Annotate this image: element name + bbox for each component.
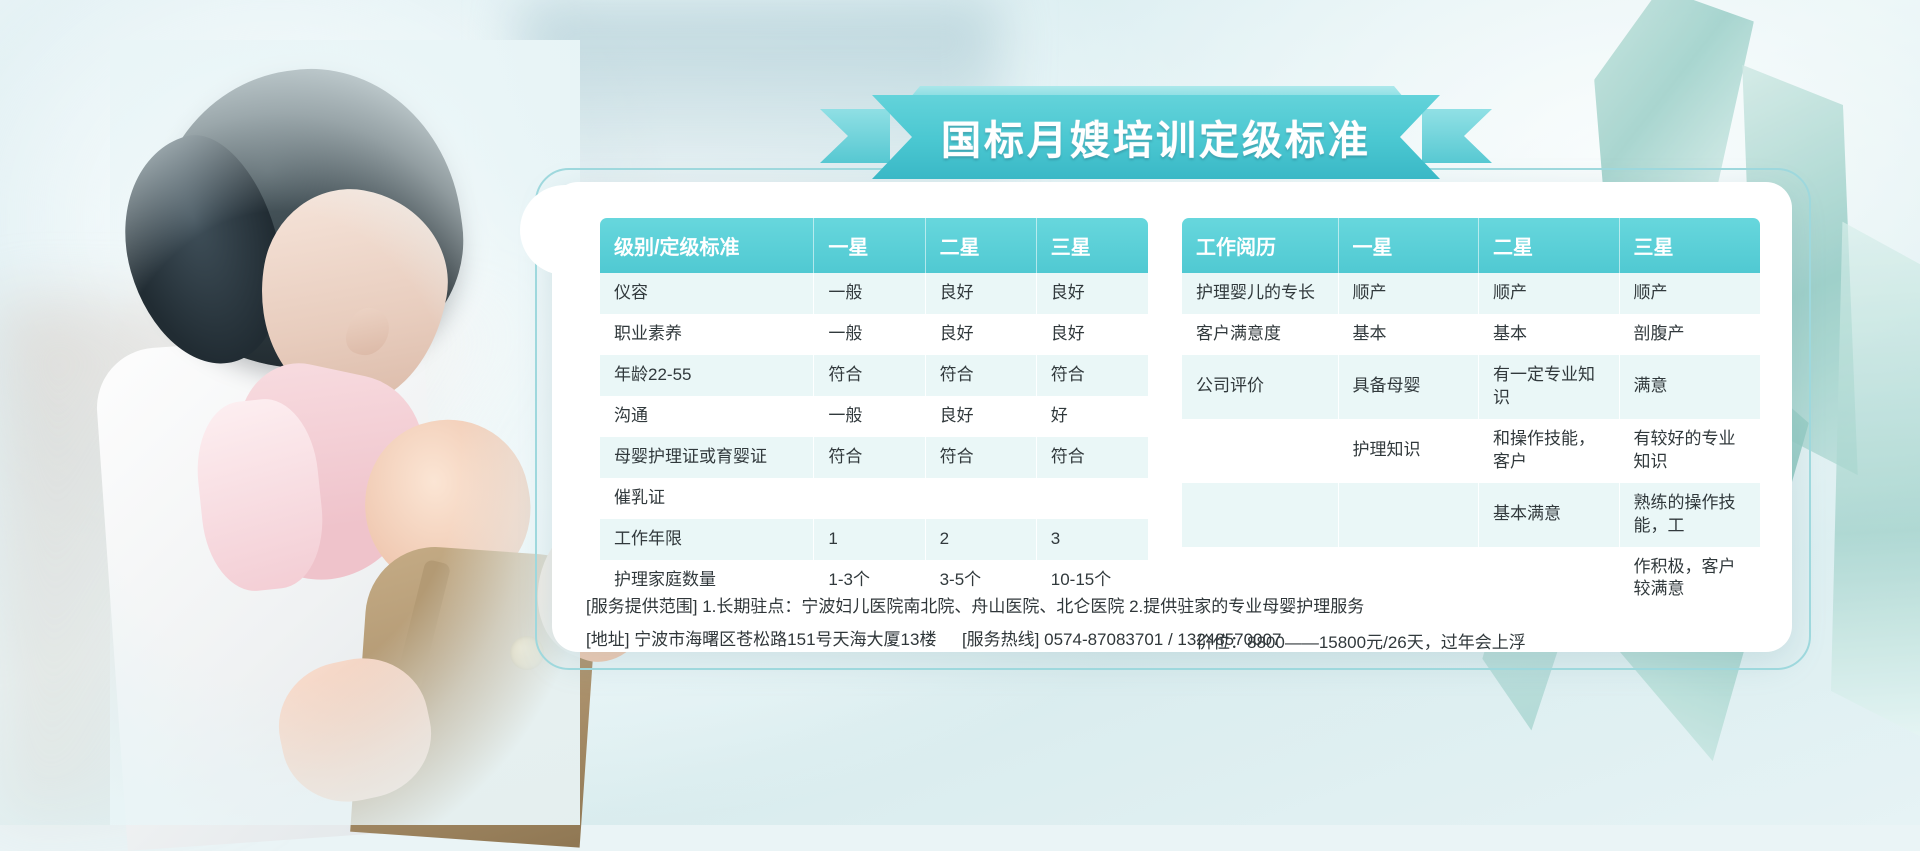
experience-label — [1182, 483, 1339, 547]
tables-container: 级别/定级标准 一星 二星 三星 仪容 一般 良好 良好 职业素养 一般 良好 — [600, 218, 1760, 653]
work-experience-table: 工作阅历 一星 二星 三星 护理婴儿的专长 顺产 顺产 顺产 客户满意度 基本 … — [1182, 218, 1760, 610]
criteria-label: 母婴护理证或育婴证 — [600, 437, 814, 478]
two-star-value: 良好 — [926, 396, 1037, 437]
grading-standard-table: 级别/定级标准 一星 二星 三星 仪容 一般 良好 良好 职业素养 一般 良好 — [600, 218, 1148, 601]
right-header-three-star: 三星 — [1620, 218, 1761, 273]
one-star-value: 顺产 — [1339, 273, 1479, 314]
three-star-value: 好 — [1037, 396, 1148, 437]
table-row: 职业素养 一般 良好 良好 — [600, 314, 1148, 355]
one-star-value: 1 — [814, 519, 925, 560]
table-row: 年龄22-55 符合 符合 符合 — [600, 355, 1148, 396]
three-star-value — [1037, 478, 1148, 519]
one-star-value: 护理知识 — [1339, 419, 1479, 483]
two-star-value — [926, 478, 1037, 519]
experience-label: 客户满意度 — [1182, 314, 1339, 355]
grading-standard-table-wrapper: 级别/定级标准 一星 二星 三星 仪容 一般 良好 良好 职业素养 一般 良好 — [600, 218, 1148, 653]
table-row: 护理知识 和操作技能，客户 有较好的专业知识 — [1182, 419, 1760, 483]
two-star-value: 符合 — [926, 355, 1037, 396]
three-star-value: 符合 — [1037, 437, 1148, 478]
left-header-criteria: 级别/定级标准 — [600, 218, 814, 273]
footer-service-scope-label: [服务提供范围] — [586, 597, 697, 616]
table-row: 客户满意度 基本 基本 剖腹产 — [1182, 314, 1760, 355]
two-star-value: 良好 — [926, 273, 1037, 314]
two-star-value: 有一定专业知识 — [1479, 355, 1619, 419]
table-header-row: 工作阅历 一星 二星 三星 — [1182, 218, 1760, 273]
page-title: 国标月嫂培训定级标准 — [872, 95, 1440, 179]
footer-service-scope-line: [服务提供范围] 1.长期驻点：宁波妇儿医院南北院、舟山医院、北仑医院 2.提供… — [586, 590, 1364, 623]
table-header-row: 级别/定级标准 一星 二星 三星 — [600, 218, 1148, 273]
criteria-label: 年龄22-55 — [600, 355, 814, 396]
criteria-label: 催乳证 — [600, 478, 814, 519]
work-experience-table-wrapper: 工作阅历 一星 二星 三星 护理婴儿的专长 顺产 顺产 顺产 客户满意度 基本 … — [1182, 218, 1760, 653]
three-star-value: 符合 — [1037, 355, 1148, 396]
photo-edge-fade — [110, 40, 580, 825]
one-star-value: 基本 — [1339, 314, 1479, 355]
experience-label: 护理婴儿的专长 — [1182, 273, 1339, 314]
footer-info: [服务提供范围] 1.长期驻点：宁波妇儿医院南北院、舟山医院、北仑医院 2.提供… — [586, 590, 1364, 656]
one-star-value: 符合 — [814, 437, 925, 478]
table-row: 仪容 一般 良好 良好 — [600, 273, 1148, 314]
three-star-value: 剖腹产 — [1620, 314, 1761, 355]
footer-address-label: [地址] — [586, 630, 629, 649]
table-row: 沟通 一般 良好 好 — [600, 396, 1148, 437]
two-star-value: 符合 — [926, 437, 1037, 478]
left-header-one-star: 一星 — [814, 218, 925, 273]
criteria-label: 职业素养 — [600, 314, 814, 355]
two-star-value: 良好 — [926, 314, 1037, 355]
footer-address-line: [地址] 宁波市海曙区苍松路151号天海大厦13楼 [服务热线] 0574-87… — [586, 623, 1364, 656]
three-star-value: 良好 — [1037, 273, 1148, 314]
table-row: 母婴护理证或育婴证 符合 符合 符合 — [600, 437, 1148, 478]
right-header-experience: 工作阅历 — [1182, 218, 1339, 273]
table-row: 护理婴儿的专长 顺产 顺产 顺产 — [1182, 273, 1760, 314]
content-card-notch — [520, 185, 610, 275]
two-star-value: 基本满意 — [1479, 483, 1619, 547]
one-star-value: 具备母婴 — [1339, 355, 1479, 419]
two-star-value: 顺产 — [1479, 273, 1619, 314]
one-star-value: 一般 — [814, 396, 925, 437]
left-header-two-star: 二星 — [926, 218, 1037, 273]
title-banner: 国标月嫂培训定级标准 — [872, 95, 1440, 179]
caregiver-and-baby-photo — [110, 40, 580, 825]
experience-label: 公司评价 — [1182, 355, 1339, 419]
three-star-value: 作积极，客户较满意 — [1620, 547, 1761, 611]
three-star-value: 3 — [1037, 519, 1148, 560]
footer-service-scope-text: 1.长期驻点：宁波妇儿医院南北院、舟山医院、北仑医院 2.提供驻家的专业母婴护理… — [702, 597, 1364, 616]
table-row: 基本满意 熟练的操作技能，工 — [1182, 483, 1760, 547]
table-row: 催乳证 — [600, 478, 1148, 519]
three-star-value: 熟练的操作技能，工 — [1620, 483, 1761, 547]
left-header-three-star: 三星 — [1037, 218, 1148, 273]
table-row: 工作年限 1 2 3 — [600, 519, 1148, 560]
experience-label — [1182, 419, 1339, 483]
two-star-value: 基本 — [1479, 314, 1619, 355]
one-star-value: 符合 — [814, 355, 925, 396]
right-header-one-star: 一星 — [1339, 218, 1479, 273]
right-header-two-star: 二星 — [1479, 218, 1619, 273]
three-star-value: 良好 — [1037, 314, 1148, 355]
two-star-value: 2 — [926, 519, 1037, 560]
two-star-value — [1479, 547, 1619, 611]
criteria-label: 沟通 — [600, 396, 814, 437]
criteria-label: 仪容 — [600, 273, 814, 314]
table-row: 公司评价 具备母婴 有一定专业知识 满意 — [1182, 355, 1760, 419]
one-star-value: 一般 — [814, 314, 925, 355]
one-star-value — [814, 478, 925, 519]
three-star-value: 有较好的专业知识 — [1620, 419, 1761, 483]
footer-hotline-text: 0574-87083701 / 13248570007 — [1044, 630, 1281, 649]
one-star-value — [1339, 483, 1479, 547]
footer-hotline-label: [服务热线] — [962, 630, 1039, 649]
three-star-value: 顺产 — [1620, 273, 1761, 314]
three-star-value: 满意 — [1620, 355, 1761, 419]
one-star-value: 一般 — [814, 273, 925, 314]
two-star-value: 和操作技能，客户 — [1479, 419, 1619, 483]
footer-address-text: 宁波市海曙区苍松路151号天海大厦13楼 — [634, 630, 936, 649]
criteria-label: 工作年限 — [600, 519, 814, 560]
